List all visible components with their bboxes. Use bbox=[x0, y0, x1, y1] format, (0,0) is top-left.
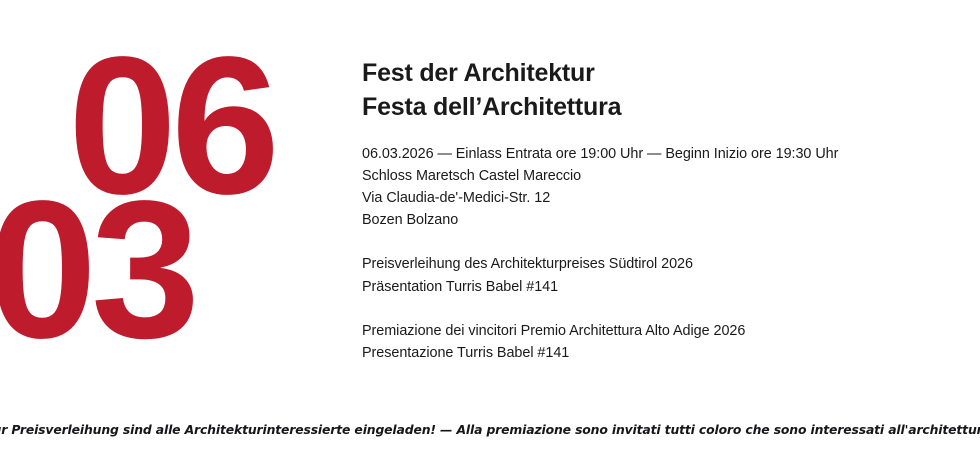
poster: 06 03 Fest der Architektur Festa dell’Ar… bbox=[0, 0, 980, 459]
program-italian-award: Premiazione dei vincitori Premio Archite… bbox=[362, 320, 838, 342]
content-column: Fest der Architektur Festa dell’Architet… bbox=[362, 0, 972, 400]
program-german: Preisverleihung des Architekturpreises S… bbox=[362, 253, 838, 297]
program-german-presentation: Präsentation Turris Babel #141 bbox=[362, 276, 838, 298]
event-datetime: 06.03.2026 — Einlass Entrata ore 19:00 U… bbox=[362, 143, 838, 165]
event-details: 06.03.2026 — Einlass Entrata ore 19:00 U… bbox=[362, 143, 838, 231]
program-german-award: Preisverleihung des Architekturpreises S… bbox=[362, 253, 838, 275]
event-street: Via Claudia-de'-Medici-Str. 12 bbox=[362, 187, 838, 209]
event-city: Bozen Bolzano bbox=[362, 209, 838, 231]
event-venue: Schloss Maretsch Castel Mareccio bbox=[362, 165, 838, 187]
footer-invitation-text: Zur Preisverleihung sind alle Architektu… bbox=[0, 422, 980, 437]
body-group: 06.03.2026 — Einlass Entrata ore 19:00 U… bbox=[362, 143, 838, 364]
headline-italian: Festa dell’Architettura bbox=[362, 91, 621, 125]
program-italian: Premiazione dei vincitori Premio Archite… bbox=[362, 320, 838, 364]
footer-strip: Zur Preisverleihung sind alle Architektu… bbox=[0, 400, 980, 459]
headline-group: Fest der Architektur Festa dell’Architet… bbox=[362, 57, 621, 124]
headline-german: Fest der Architektur bbox=[362, 57, 621, 91]
date-block: 06 03 bbox=[0, 0, 340, 400]
date-month: 03 bbox=[0, 172, 194, 368]
program-italian-presentation: Presentazione Turris Babel #141 bbox=[362, 342, 838, 364]
